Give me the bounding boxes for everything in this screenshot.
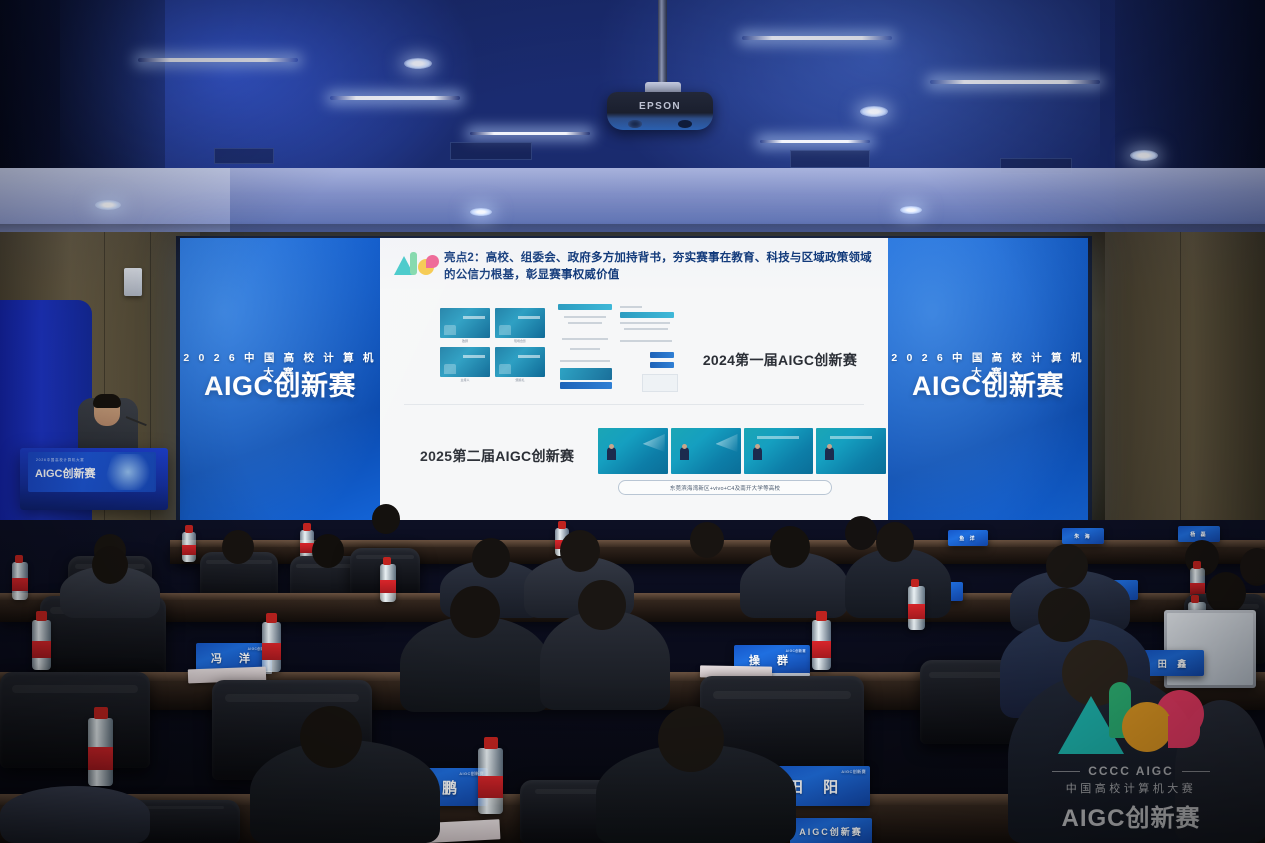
bottle-cap (1193, 561, 1201, 569)
filmstrip-photo (816, 428, 886, 474)
bottle-label (32, 641, 51, 658)
bottle-label (478, 776, 503, 798)
nameplate-tag: AIGC创新赛 (841, 769, 866, 775)
watermark-en: CCCC AIGC (1088, 764, 1174, 778)
attendee-head (560, 530, 600, 572)
bottle-cap (816, 611, 827, 621)
slide-news-screenshots (558, 304, 676, 392)
doc-text-line (562, 338, 608, 340)
nameplate-name: 田 鑫 (1158, 657, 1191, 670)
attendee-head (876, 522, 914, 562)
photo-person-head (682, 444, 687, 449)
ceiling-vent (214, 148, 274, 164)
rule-left (1052, 771, 1080, 772)
doc-text-line (564, 316, 606, 318)
pac-shape-icon (1122, 702, 1172, 752)
filmstrip-photo (744, 428, 814, 474)
wall-seam (1180, 232, 1181, 562)
bottle-cap (15, 555, 23, 563)
ceiling-vent (450, 142, 532, 160)
bottle-cap (383, 557, 391, 565)
slide-header: 亮点2：高校、组委会、政府多方加持背书，夯实赛事在教育、科技与区域政策领域的公信… (394, 250, 878, 284)
photo-person-head (609, 444, 614, 449)
thumbnail-image (495, 347, 545, 377)
bottle-label (12, 578, 28, 591)
attendee-head (770, 526, 810, 568)
slide-partner-caption: 东莞滨海湾新区+vivo+C4及南开大学等高校 (618, 480, 832, 495)
banner-right-title: AIGC创新赛 (888, 364, 1088, 403)
attendee-head (300, 706, 362, 768)
attendee-body-front (0, 786, 150, 843)
nameplate-name: 操 群 (749, 652, 795, 668)
podium-sign-tagline: 2026中国高校计算机大赛 (36, 457, 84, 462)
doc-text-line (620, 306, 642, 308)
chair (0, 672, 150, 768)
nameplate-row2-right[interactable]: 田 鑫 (1144, 650, 1204, 676)
downlight (95, 200, 121, 210)
projector-mount-pole (658, 0, 667, 86)
thumbnail-image (440, 347, 490, 377)
attendee-head (658, 706, 724, 772)
bottle-label (182, 545, 196, 555)
wall-speaker (124, 268, 142, 296)
doc-text-line (560, 360, 610, 362)
downlight (1130, 150, 1158, 161)
nameplate-name: 冯 洋 (211, 650, 257, 666)
water-bottle (32, 620, 51, 670)
podium-sign-title: AIGC创新赛 (35, 465, 96, 481)
nameplate-tag: AIGC创新赛 (786, 648, 806, 653)
thumbnail-cell: 颁奖礼 (495, 347, 545, 382)
doc-blue-bar (560, 382, 612, 389)
attendee-head (372, 504, 400, 534)
doc-text-line (620, 322, 670, 324)
stage-beam (716, 434, 738, 452)
watermark-logo: CCCC AIGC 中国高校计算机大赛 AIGC创新赛 (1043, 682, 1219, 833)
podium-sign-artwork (102, 454, 154, 490)
downlight (470, 208, 492, 216)
nameplate-name: 朱 海 (1074, 533, 1091, 540)
bottle-label (88, 747, 113, 770)
attendee-head (222, 530, 254, 564)
filmstrip-photo (598, 428, 668, 474)
attendee-head (1046, 544, 1088, 588)
bottle-cap (911, 579, 919, 587)
strip-light (138, 58, 298, 62)
bottle-label (908, 604, 925, 619)
downlight (860, 106, 888, 117)
attendee-head (472, 538, 510, 578)
ceiling-vent (790, 150, 870, 168)
projector-brand-label: EPSON (607, 101, 713, 112)
doc-text-line (570, 348, 600, 350)
thumbnail-caption: 颁奖礼 (495, 377, 545, 382)
nameplate-name: 鱼 洋 (959, 535, 976, 542)
doc-text-line (568, 322, 602, 324)
presentation-slide: 亮点2：高校、组委会、政府多方加持背书，夯实赛事在教育、科技与区域政策领域的公信… (380, 238, 888, 538)
banner-left-title: AIGC创新赛 (180, 364, 380, 403)
strip-light (742, 36, 892, 40)
slide-divider (404, 404, 864, 405)
thumbnail-caption: 致辞 (440, 338, 490, 343)
nameplate-far: 朱 海 (1062, 528, 1104, 544)
attendee-head (450, 586, 500, 638)
thumbnail-image (440, 308, 490, 338)
water-bottle (908, 586, 925, 630)
thumbnail-image (495, 308, 545, 338)
thumb-caption-line (518, 355, 540, 358)
bottle-label (262, 643, 281, 660)
doc-text-line (620, 340, 672, 342)
water-bottle (478, 748, 503, 814)
downlight (404, 58, 432, 69)
podium-sign: 2026中国高校计算机大赛 AIGC创新赛 (28, 452, 156, 492)
pie-shape-icon (426, 255, 439, 268)
bar-shape-icon (410, 252, 417, 275)
nameplate-name: 田 阳 (788, 776, 846, 797)
thumb-caption-line (518, 316, 540, 319)
watermark-rule: CCCC AIGC (1043, 764, 1219, 778)
strip-light (930, 80, 1100, 84)
speaker-hair (93, 394, 121, 408)
bottle-cap (94, 707, 108, 719)
rule-right (1182, 771, 1210, 772)
nameplate-name: AIGC创新赛 (799, 825, 863, 838)
downlight (900, 206, 922, 214)
attendee-head (312, 534, 344, 568)
attendee-head (1038, 588, 1090, 642)
thumbnail-cell: 致辞 (440, 308, 490, 343)
bottle-cap (266, 613, 277, 623)
attendee-head (1206, 572, 1246, 614)
water-bottle (182, 532, 196, 562)
thumbnail-caption: 现场合影 (495, 338, 545, 343)
thumbnail-caption: 主持人 (440, 377, 490, 382)
slide-filmstrip (598, 428, 886, 474)
label-2024-edition: 2024第一届AIGC创新赛 (680, 350, 880, 370)
nameplate-far: 鱼 洋 (948, 530, 988, 546)
thumbnail-cell: 主持人 (440, 347, 490, 382)
attendee-head (845, 516, 877, 550)
photo-banner-line (757, 436, 799, 439)
attendee-head (92, 546, 128, 584)
slide-partner-caption-text: 东莞滨海湾新区+vivo+C4及南开大学等高校 (670, 484, 780, 492)
attendee-head (578, 580, 626, 630)
doc-text-line (624, 328, 668, 330)
watermark-marks (1056, 682, 1206, 760)
doc-blue-bar (650, 362, 674, 368)
water-bottle (812, 620, 831, 670)
thumbnail-cell: 现场合影 (495, 308, 545, 343)
bottle-cap (484, 737, 498, 749)
aigc-logo-icon (394, 250, 436, 276)
attendee-head (690, 522, 724, 558)
thumb-caption-line (463, 355, 485, 358)
doc-blue-bar (650, 352, 674, 358)
bottle-cap (36, 611, 47, 621)
stage-beam (643, 434, 665, 452)
laptop[interactable] (1164, 610, 1256, 688)
wall-seam (150, 232, 151, 562)
banner-right: 2 0 2 6 中 国 高 校 计 算 机 大 赛 AIGC创新赛 (888, 238, 1088, 538)
bottle-cap (185, 525, 193, 533)
doc-photo (560, 368, 612, 380)
nameplate-name: 杨 磊 (1190, 531, 1207, 538)
strip-light (470, 132, 590, 135)
doc-header-bar (558, 304, 612, 310)
bottle-label (812, 641, 831, 658)
strip-light (330, 96, 460, 100)
doc-box (642, 374, 678, 392)
quarter-circle-icon (1168, 716, 1200, 748)
projector-lens-icon (628, 120, 642, 128)
banner-left: 2 0 2 6 中 国 高 校 计 算 机 大 赛 AIGC创新赛 (180, 238, 380, 538)
conference-photo: EPSON 2 0 2 6 中 国 高 校 计 算 机 大 赛 AIGC创新赛 … (0, 0, 1265, 843)
water-bottle (380, 564, 396, 602)
strip-light (760, 140, 870, 143)
slide-title: 亮点2：高校、组委会、政府多方加持背书，夯实赛事在教育、科技与区域政策领域的公信… (444, 250, 878, 284)
bottle-cap (1191, 595, 1199, 603)
water-bottle (262, 622, 281, 672)
thumb-caption-line (463, 316, 485, 319)
label-2025-edition: 2025第二届AIGC创新赛 (420, 446, 600, 466)
watermark-cn: 中国高校计算机大赛 (1043, 780, 1219, 796)
photo-banner-line (830, 436, 872, 439)
water-bottle (12, 562, 28, 600)
bottle-label (380, 580, 396, 593)
nameplate-front-extra2[interactable]: AIGC创新赛 (790, 818, 872, 843)
wood-panel-right (1105, 232, 1265, 562)
water-bottle (88, 718, 113, 786)
slide-thumbnail-grid: 致辞 现场合影 主持人 颁奖礼 (440, 308, 545, 382)
bottle-cap (303, 523, 311, 531)
projector-lens-icon (678, 120, 692, 128)
watermark-big: AIGC创新赛 (1043, 798, 1219, 833)
doc-header-bar (620, 312, 674, 318)
filmstrip-photo (671, 428, 741, 474)
bottle-cap (558, 521, 566, 529)
photo-person-head (755, 444, 760, 449)
